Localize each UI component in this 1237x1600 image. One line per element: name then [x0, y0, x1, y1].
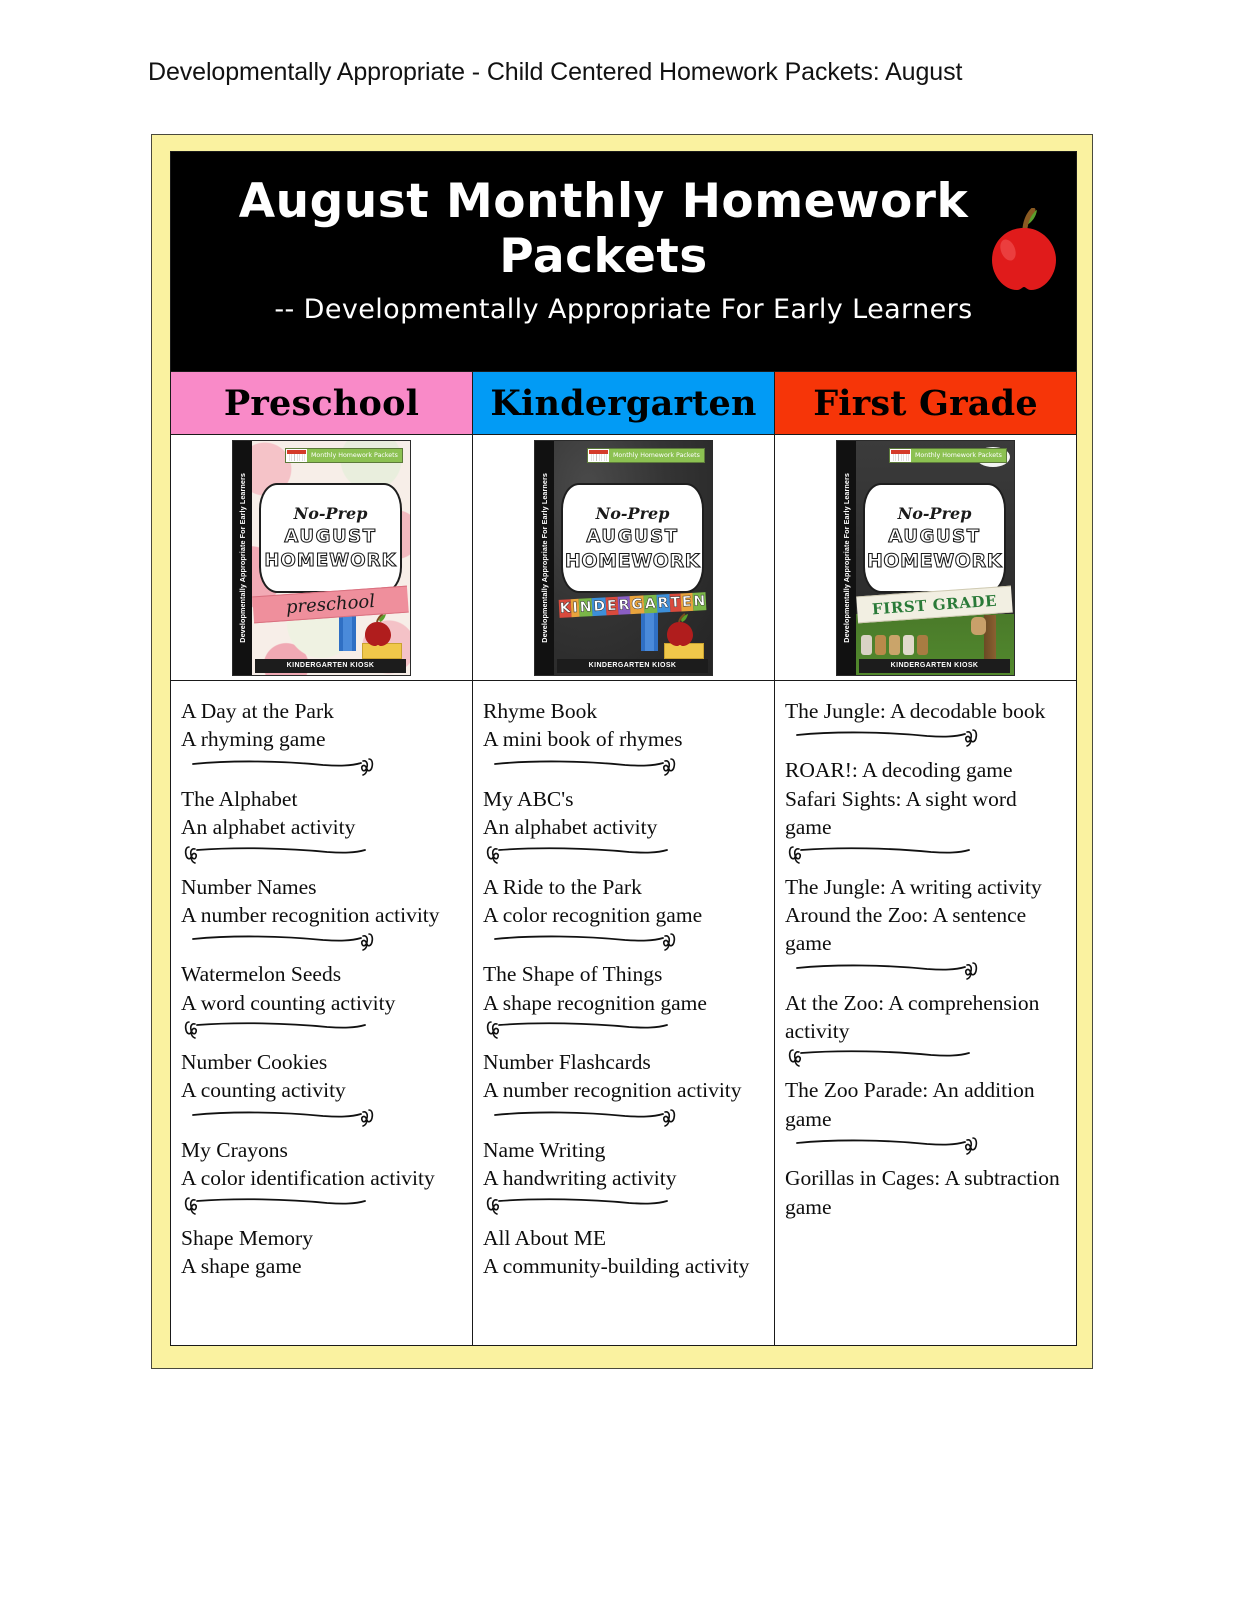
squiggle-divider: [181, 1020, 462, 1046]
cover-badge-label: Monthly Homework Packets: [307, 449, 402, 463]
activity-list-first-grade: The Jungle: A decodable bookROAR!: A dec…: [775, 681, 1076, 1345]
activity-title: Number Cookies: [181, 1048, 462, 1076]
activity-title: Gorillas in Cages: A subtraction game: [785, 1164, 1066, 1221]
activity-description: A color recognition game: [483, 901, 764, 929]
squiggle-divider: [785, 1136, 1066, 1162]
activity-entry: A Day at the ParkA rhyming game: [181, 697, 462, 754]
activity-list-preschool: A Day at the ParkA rhyming gameThe Alpha…: [171, 681, 473, 1345]
monkey-icon: [971, 617, 986, 635]
calendar-icon: [286, 449, 307, 463]
grade-label-first-grade: First Grade: [775, 372, 1076, 434]
activity-description: An alphabet activity: [483, 813, 764, 841]
activity-title: The Jungle: A writing activity: [785, 873, 1066, 901]
activity-title: ROAR!: A decoding game: [785, 756, 1066, 784]
cover-noprep-label: No-Prep: [294, 504, 368, 523]
activity-title: Name Writing: [483, 1136, 764, 1164]
cover-homework-label: HOMEWORK: [264, 550, 396, 571]
activity-title: At the Zoo: A comprehension activity: [785, 989, 1066, 1046]
squiggle-divider: [483, 1108, 764, 1134]
activity-entry: My ABC'sAn alphabet activity: [483, 785, 764, 842]
cover-thumbnail-kindergarten[interactable]: Developmentally Appropriate For Early Le…: [534, 440, 713, 676]
grade-header-row: Preschool Kindergarten First Grade: [171, 371, 1076, 435]
squiggle-divider: [483, 845, 764, 871]
activity-entry: ROAR!: A decoding gameSafari Sights: A s…: [785, 756, 1066, 841]
activity-entry: The Shape of ThingsA shape recognition g…: [483, 960, 764, 1017]
activity-title: Watermelon Seeds: [181, 960, 462, 988]
activity-title: A Day at the Park: [181, 697, 462, 725]
cover-badge-first-grade: Monthly Homework Packets: [889, 448, 1007, 464]
squiggle-divider: [785, 728, 1066, 754]
squiggle-divider: [181, 1196, 462, 1222]
activity-title: My ABC's: [483, 785, 764, 813]
activity-entry: Rhyme BookA mini book of rhymes: [483, 697, 764, 754]
activity-description: A color identification activity: [181, 1164, 462, 1192]
poster-banner: August Monthly Homework Packets -- Devel…: [171, 152, 1076, 371]
squiggle-divider: [483, 932, 764, 958]
cover-cell-first-grade: Developmentally Appropriate For Early Le…: [775, 435, 1076, 680]
calendar-icon: [588, 449, 609, 463]
activity-entry: All About MEA community-building activit…: [483, 1224, 764, 1281]
activity-entry: The AlphabetAn alphabet activity: [181, 785, 462, 842]
squiggle-divider: [785, 845, 1066, 871]
squiggle-divider: [483, 1020, 764, 1046]
activity-description: Safari Sights: A sight word game: [785, 785, 1066, 842]
cover-footer-kindergarten: KINDERGARTEN KIOSK: [557, 659, 708, 673]
cover-sidebar-preschool: Developmentally Appropriate For Early Le…: [233, 441, 252, 675]
squiggle-divider: [181, 845, 462, 871]
activity-entry: My CrayonsA color identification activit…: [181, 1136, 462, 1193]
apple-icon: [984, 208, 1062, 292]
activity-description: Around the Zoo: A sentence game: [785, 901, 1066, 958]
grade-header-cell-preschool: Preschool: [171, 372, 473, 434]
poster-frame: August Monthly Homework Packets -- Devel…: [151, 134, 1093, 1369]
cover-sidebar-label: Developmentally Appropriate For Early Le…: [238, 473, 247, 643]
activity-list-kindergarten: Rhyme BookA mini book of rhymesMy ABC'sA…: [473, 681, 775, 1345]
cover-month-label: AUGUST: [284, 526, 376, 547]
cover-badge-preschool: Monthly Homework Packets: [285, 448, 403, 464]
activity-description: A handwriting activity: [483, 1164, 764, 1192]
poster-inner: August Monthly Homework Packets -- Devel…: [170, 151, 1077, 1346]
activity-title: A Ride to the Park: [483, 873, 764, 901]
activity-entry: Number CookiesA counting activity: [181, 1048, 462, 1105]
activity-description: A number recognition activity: [483, 1076, 764, 1104]
activity-title: Number Flashcards: [483, 1048, 764, 1076]
cover-thumbnail-first-grade[interactable]: Developmentally Appropriate For Early Le…: [836, 440, 1015, 676]
squiggle-divider: [181, 757, 462, 783]
activity-title: The Alphabet: [181, 785, 462, 813]
squiggle-divider: [785, 1048, 1066, 1074]
cover-cell-preschool: Developmentally Appropriate For Early Le…: [171, 435, 473, 680]
activity-description: A shape game: [181, 1252, 462, 1280]
cover-noprep-label: No-Prep: [898, 504, 972, 523]
squiggle-divider: [483, 757, 764, 783]
activity-description: A mini book of rhymes: [483, 725, 764, 753]
activity-entry: The Jungle: A decodable book: [785, 697, 1066, 725]
cover-badge-label: Monthly Homework Packets: [911, 449, 1006, 463]
cover-sidebar-label: Developmentally Appropriate For Early Le…: [540, 473, 549, 643]
activity-lists-row: A Day at the ParkA rhyming gameThe Alpha…: [171, 681, 1076, 1345]
cover-badge-kindergarten: Monthly Homework Packets: [587, 448, 705, 464]
cover-thumbnail-row: Developmentally Appropriate For Early Le…: [171, 435, 1076, 681]
cover-footer-first-grade: KINDERGARTEN KIOSK: [859, 659, 1010, 673]
squiggle-divider: [181, 1108, 462, 1134]
cover-plaque-first-grade: No-Prep AUGUST HOMEWORK: [863, 483, 1006, 593]
activity-description: A number recognition activity: [181, 901, 462, 929]
cover-footer-preschool: KINDERGARTEN KIOSK: [255, 659, 406, 673]
banner-subtitle: -- Developmentally Appropriate For Early…: [181, 295, 1066, 325]
activity-description: A counting activity: [181, 1076, 462, 1104]
cover-homework-label: HOMEWORK: [867, 550, 1002, 572]
cover-plaque-preschool: No-Prep AUGUST HOMEWORK: [259, 483, 402, 593]
activity-entry: The Jungle: A writing activityAround the…: [785, 873, 1066, 958]
cover-homework-label: HOMEWORK: [565, 550, 700, 572]
jungle-animals-icon: [861, 635, 928, 655]
grade-label-kindergarten: Kindergarten: [473, 372, 774, 434]
activity-description: A community-building activity: [483, 1252, 764, 1280]
activity-entry: Gorillas in Cages: A subtraction game: [785, 1164, 1066, 1221]
banner-title-line2: Packets: [211, 229, 996, 284]
grade-header-cell-kindergarten: Kindergarten: [473, 372, 775, 434]
cover-badge-label: Monthly Homework Packets: [609, 449, 704, 463]
apple-icon-cover: [362, 613, 394, 647]
activity-title: The Zoo Parade: An addition game: [785, 1076, 1066, 1133]
activity-title: The Jungle: A decodable book: [785, 697, 1066, 725]
activity-description: A rhyming game: [181, 725, 462, 753]
banner-title: August Monthly Homework Packets: [181, 174, 1066, 285]
activity-title: My Crayons: [181, 1136, 462, 1164]
squiggle-divider: [483, 1196, 764, 1222]
activity-entry: A Ride to the ParkA color recognition ga…: [483, 873, 764, 930]
banner-title-line1: August Monthly Homework: [211, 174, 996, 229]
apple-icon-cover: [664, 613, 696, 647]
cover-month-label: AUGUST: [888, 526, 980, 547]
cover-sidebar-label: Developmentally Appropriate For Early Le…: [842, 473, 851, 643]
activity-title: The Shape of Things: [483, 960, 764, 988]
activity-title: Number Names: [181, 873, 462, 901]
cover-month-label: AUGUST: [586, 526, 678, 547]
cover-sidebar-first-grade: Developmentally Appropriate For Early Le…: [837, 441, 856, 675]
activity-entry: Number NamesA number recognition activit…: [181, 873, 462, 930]
grade-label-preschool: Preschool: [171, 372, 472, 434]
calendar-icon: [890, 449, 911, 463]
cover-cell-kindergarten: Developmentally Appropriate For Early Le…: [473, 435, 775, 680]
activity-description: A word counting activity: [181, 989, 462, 1017]
cover-sidebar-kindergarten: Developmentally Appropriate For Early Le…: [535, 441, 554, 675]
activity-description: A shape recognition game: [483, 989, 764, 1017]
activity-title: Rhyme Book: [483, 697, 764, 725]
activity-entry: Watermelon SeedsA word counting activity: [181, 960, 462, 1017]
cover-noprep-label: No-Prep: [596, 504, 670, 523]
activity-entry: Number FlashcardsA number recognition ac…: [483, 1048, 764, 1105]
page-title: Developmentally Appropriate - Child Cent…: [148, 58, 962, 87]
activity-entry: At the Zoo: A comprehension activity: [785, 989, 1066, 1046]
activity-entry: The Zoo Parade: An addition game: [785, 1076, 1066, 1133]
activity-description: An alphabet activity: [181, 813, 462, 841]
squiggle-divider: [181, 932, 462, 958]
cover-plaque-kindergarten: No-Prep AUGUST HOMEWORK: [561, 483, 704, 593]
activity-entry: Name WritingA handwriting activity: [483, 1136, 764, 1193]
activity-title: Shape Memory: [181, 1224, 462, 1252]
activity-entry: Shape MemoryA shape game: [181, 1224, 462, 1281]
activity-title: All About ME: [483, 1224, 764, 1252]
grade-header-cell-first-grade: First Grade: [775, 372, 1076, 434]
squiggle-divider: [785, 961, 1066, 987]
cover-thumbnail-preschool[interactable]: Developmentally Appropriate For Early Le…: [232, 440, 411, 676]
